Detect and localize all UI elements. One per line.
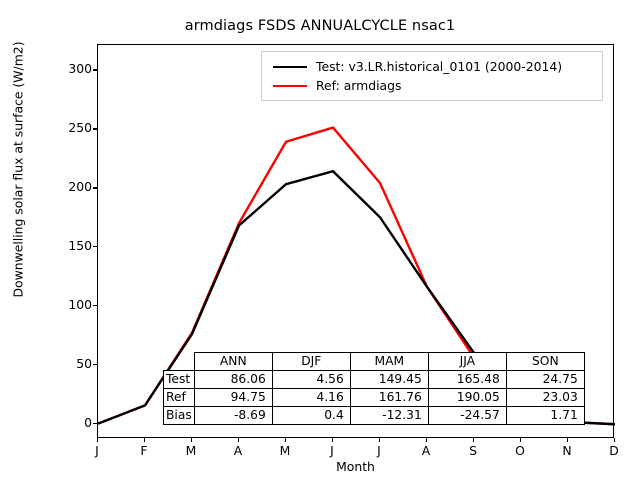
table-row: Test86.064.56149.45165.4824.75 bbox=[164, 371, 585, 389]
legend-swatch-test bbox=[273, 66, 307, 68]
y-axis-label: Downwelling solar flux at surface (W/m2) bbox=[11, 0, 26, 405]
x-tick-label: S bbox=[458, 444, 488, 459]
x-tick-label: A bbox=[411, 444, 441, 459]
table-cell: -12.31 bbox=[350, 407, 428, 425]
x-tick-label: J bbox=[317, 444, 347, 459]
table-column-header: SON bbox=[506, 353, 584, 371]
table-cell: -8.69 bbox=[194, 407, 272, 425]
x-tick-label: J bbox=[364, 444, 394, 459]
legend-item-ref: Ref: armdiags bbox=[269, 76, 595, 95]
table-cell: 0.4 bbox=[272, 407, 350, 425]
y-tick-label: 0 bbox=[32, 417, 92, 429]
table-cell: 4.56 bbox=[272, 371, 350, 389]
table-row: Bias-8.690.4-12.31-24.571.71 bbox=[164, 407, 585, 425]
table-column-header: JJA bbox=[428, 353, 506, 371]
y-tick-mark bbox=[93, 305, 97, 306]
statistics-table: ANNDJFMAMJJASONTest86.064.56149.45165.48… bbox=[163, 352, 585, 425]
y-tick-label: 300 bbox=[32, 63, 92, 75]
table-cell: 24.75 bbox=[506, 371, 584, 389]
table-cell: 1.71 bbox=[506, 407, 584, 425]
table-row: Ref94.754.16161.76190.0523.03 bbox=[164, 389, 585, 407]
legend-item-test: Test: v3.LR.historical_0101 (2000-2014) bbox=[269, 57, 595, 76]
x-tick-mark bbox=[238, 438, 239, 442]
table-row-header: Ref bbox=[164, 389, 195, 407]
table-corner-cell bbox=[164, 353, 195, 371]
table-cell: 190.05 bbox=[428, 389, 506, 407]
y-tick-mark bbox=[93, 246, 97, 247]
x-tick-label: F bbox=[129, 444, 159, 459]
legend-swatch-ref bbox=[273, 85, 307, 87]
table-column-header: MAM bbox=[350, 353, 428, 371]
table-header-row: ANNDJFMAMJJASON bbox=[164, 353, 585, 371]
x-tick-mark bbox=[614, 438, 615, 442]
table-cell: 149.45 bbox=[350, 371, 428, 389]
table-cell: 161.76 bbox=[350, 389, 428, 407]
y-tick-label: 200 bbox=[32, 181, 92, 193]
y-tick-mark bbox=[93, 364, 97, 365]
x-tick-label: D bbox=[599, 444, 629, 459]
figure-canvas: armdiags FSDS ANNUALCYCLE nsac1 05010015… bbox=[0, 0, 640, 480]
x-tick-label: N bbox=[552, 444, 582, 459]
x-tick-mark bbox=[144, 438, 145, 442]
x-axis-label: Month bbox=[97, 459, 614, 474]
y-tick-mark bbox=[93, 423, 97, 424]
x-tick-mark bbox=[473, 438, 474, 442]
legend-box: Test: v3.LR.historical_0101 (2000-2014) … bbox=[261, 51, 603, 101]
legend-label-test: Test: v3.LR.historical_0101 (2000-2014) bbox=[316, 59, 562, 74]
x-tick-mark bbox=[520, 438, 521, 442]
y-tick-label: 50 bbox=[32, 358, 92, 370]
table-cell: 23.03 bbox=[506, 389, 584, 407]
x-tick-mark bbox=[426, 438, 427, 442]
table-cell: 86.06 bbox=[194, 371, 272, 389]
y-tick-label: 100 bbox=[32, 299, 92, 311]
table-row-header: Bias bbox=[164, 407, 195, 425]
table-cell: 165.48 bbox=[428, 371, 506, 389]
x-tick-label: A bbox=[223, 444, 253, 459]
x-tick-mark bbox=[332, 438, 333, 442]
y-tick-mark bbox=[93, 69, 97, 70]
x-tick-mark bbox=[285, 438, 286, 442]
table-column-header: DJF bbox=[272, 353, 350, 371]
y-tick-mark bbox=[93, 187, 97, 188]
x-tick-mark bbox=[379, 438, 380, 442]
y-tick-mark bbox=[93, 128, 97, 129]
x-tick-label: M bbox=[270, 444, 300, 459]
table-column-header: ANN bbox=[194, 353, 272, 371]
x-tick-label: J bbox=[82, 444, 112, 459]
y-tick-label: 150 bbox=[32, 240, 92, 252]
table-cell: 94.75 bbox=[194, 389, 272, 407]
x-tick-mark bbox=[191, 438, 192, 442]
x-tick-label: O bbox=[505, 444, 535, 459]
table-row-header: Test bbox=[164, 371, 195, 389]
y-tick-label: 250 bbox=[32, 122, 92, 134]
x-tick-label: M bbox=[176, 444, 206, 459]
legend-label-ref: Ref: armdiags bbox=[316, 78, 401, 93]
x-tick-mark bbox=[567, 438, 568, 442]
x-tick-mark bbox=[97, 438, 98, 442]
table-cell: -24.57 bbox=[428, 407, 506, 425]
page-title: armdiags FSDS ANNUALCYCLE nsac1 bbox=[0, 18, 640, 34]
table-cell: 4.16 bbox=[272, 389, 350, 407]
